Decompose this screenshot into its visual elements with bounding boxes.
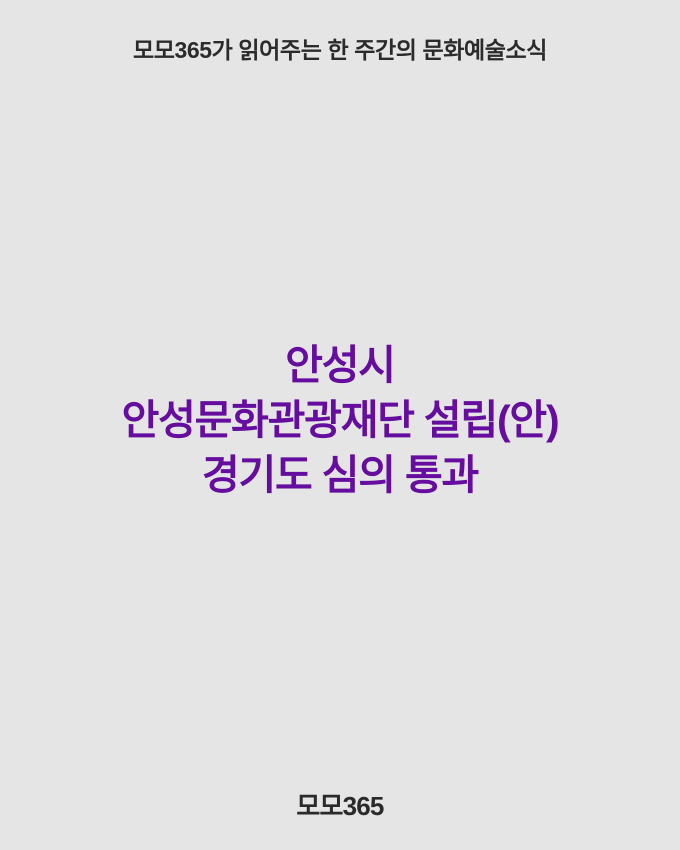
card-header: 모모365가 읽어주는 한 주간의 문화예술소식	[0, 36, 680, 66]
headline-line-2: 안성문화관광재단 설립(안)	[24, 393, 656, 448]
card-footer: 모모365	[0, 791, 680, 822]
news-card: 모모365가 읽어주는 한 주간의 문화예술소식 안성시 안성문화관광재단 설립…	[0, 0, 680, 850]
header-tagline: 모모365가 읽어주는 한 주간의 문화예술소식	[133, 36, 547, 66]
brand-logo: 모모365	[296, 791, 383, 822]
headline-block: 안성시 안성문화관광재단 설립(안) 경기도 심의 통과	[0, 338, 680, 503]
headline-line-1: 안성시	[24, 338, 656, 393]
headline-line-3: 경기도 심의 통과	[24, 448, 656, 503]
